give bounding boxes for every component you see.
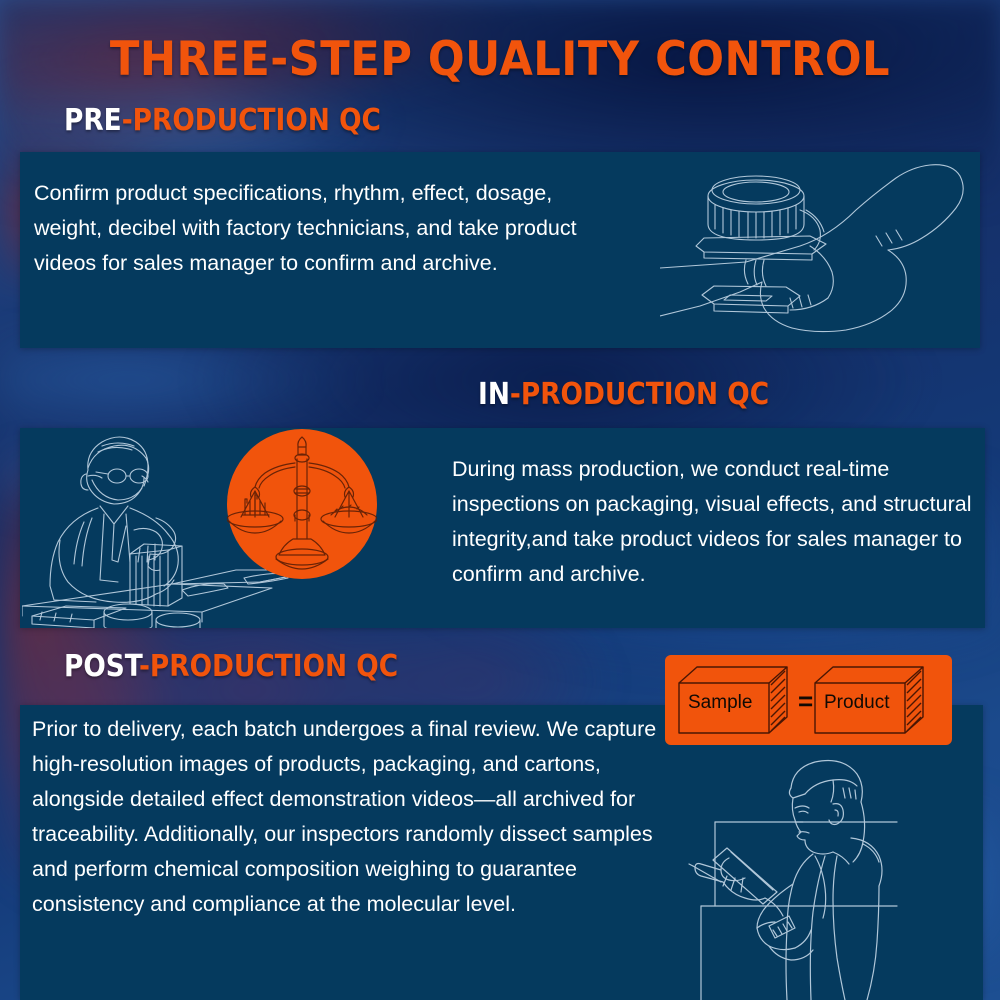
body-text-post-production: Prior to delivery, each batch undergoes …	[32, 712, 662, 922]
section-heading-pre-production: PRE-PRODUCTION QC	[64, 104, 381, 138]
section-heading-post-production: POST-PRODUCTION QC	[64, 650, 398, 684]
page-title: THREE-STEP QUALITY CONTROL	[40, 34, 960, 86]
section-heading-prefix: PRE	[64, 103, 122, 138]
balance-scale-icon	[227, 429, 377, 579]
section-heading-suffix: -PRODUCTION QC	[139, 649, 398, 684]
section-heading-prefix: POST	[64, 649, 139, 684]
body-text-in-production: During mass production, we conduct real-…	[452, 452, 982, 592]
equals-sign: =	[798, 686, 813, 717]
infographic-page: THREE-STEP QUALITY CONTROL PRE-PRODUCTIO…	[0, 0, 1000, 1000]
section-heading-in-production: IN-PRODUCTION QC	[478, 378, 769, 412]
section-heading-suffix: -PRODUCTION QC	[510, 377, 769, 412]
sample-label: Sample	[688, 692, 752, 714]
body-text-pre-production: Confirm product specifications, rhythm, …	[34, 176, 594, 281]
section-heading-suffix: -PRODUCTION QC	[122, 103, 381, 138]
section-heading-prefix: IN	[478, 377, 510, 412]
hand-holding-device-icon	[660, 150, 980, 350]
man-with-tablet-icon	[665, 752, 985, 1000]
product-label: Product	[824, 692, 889, 714]
